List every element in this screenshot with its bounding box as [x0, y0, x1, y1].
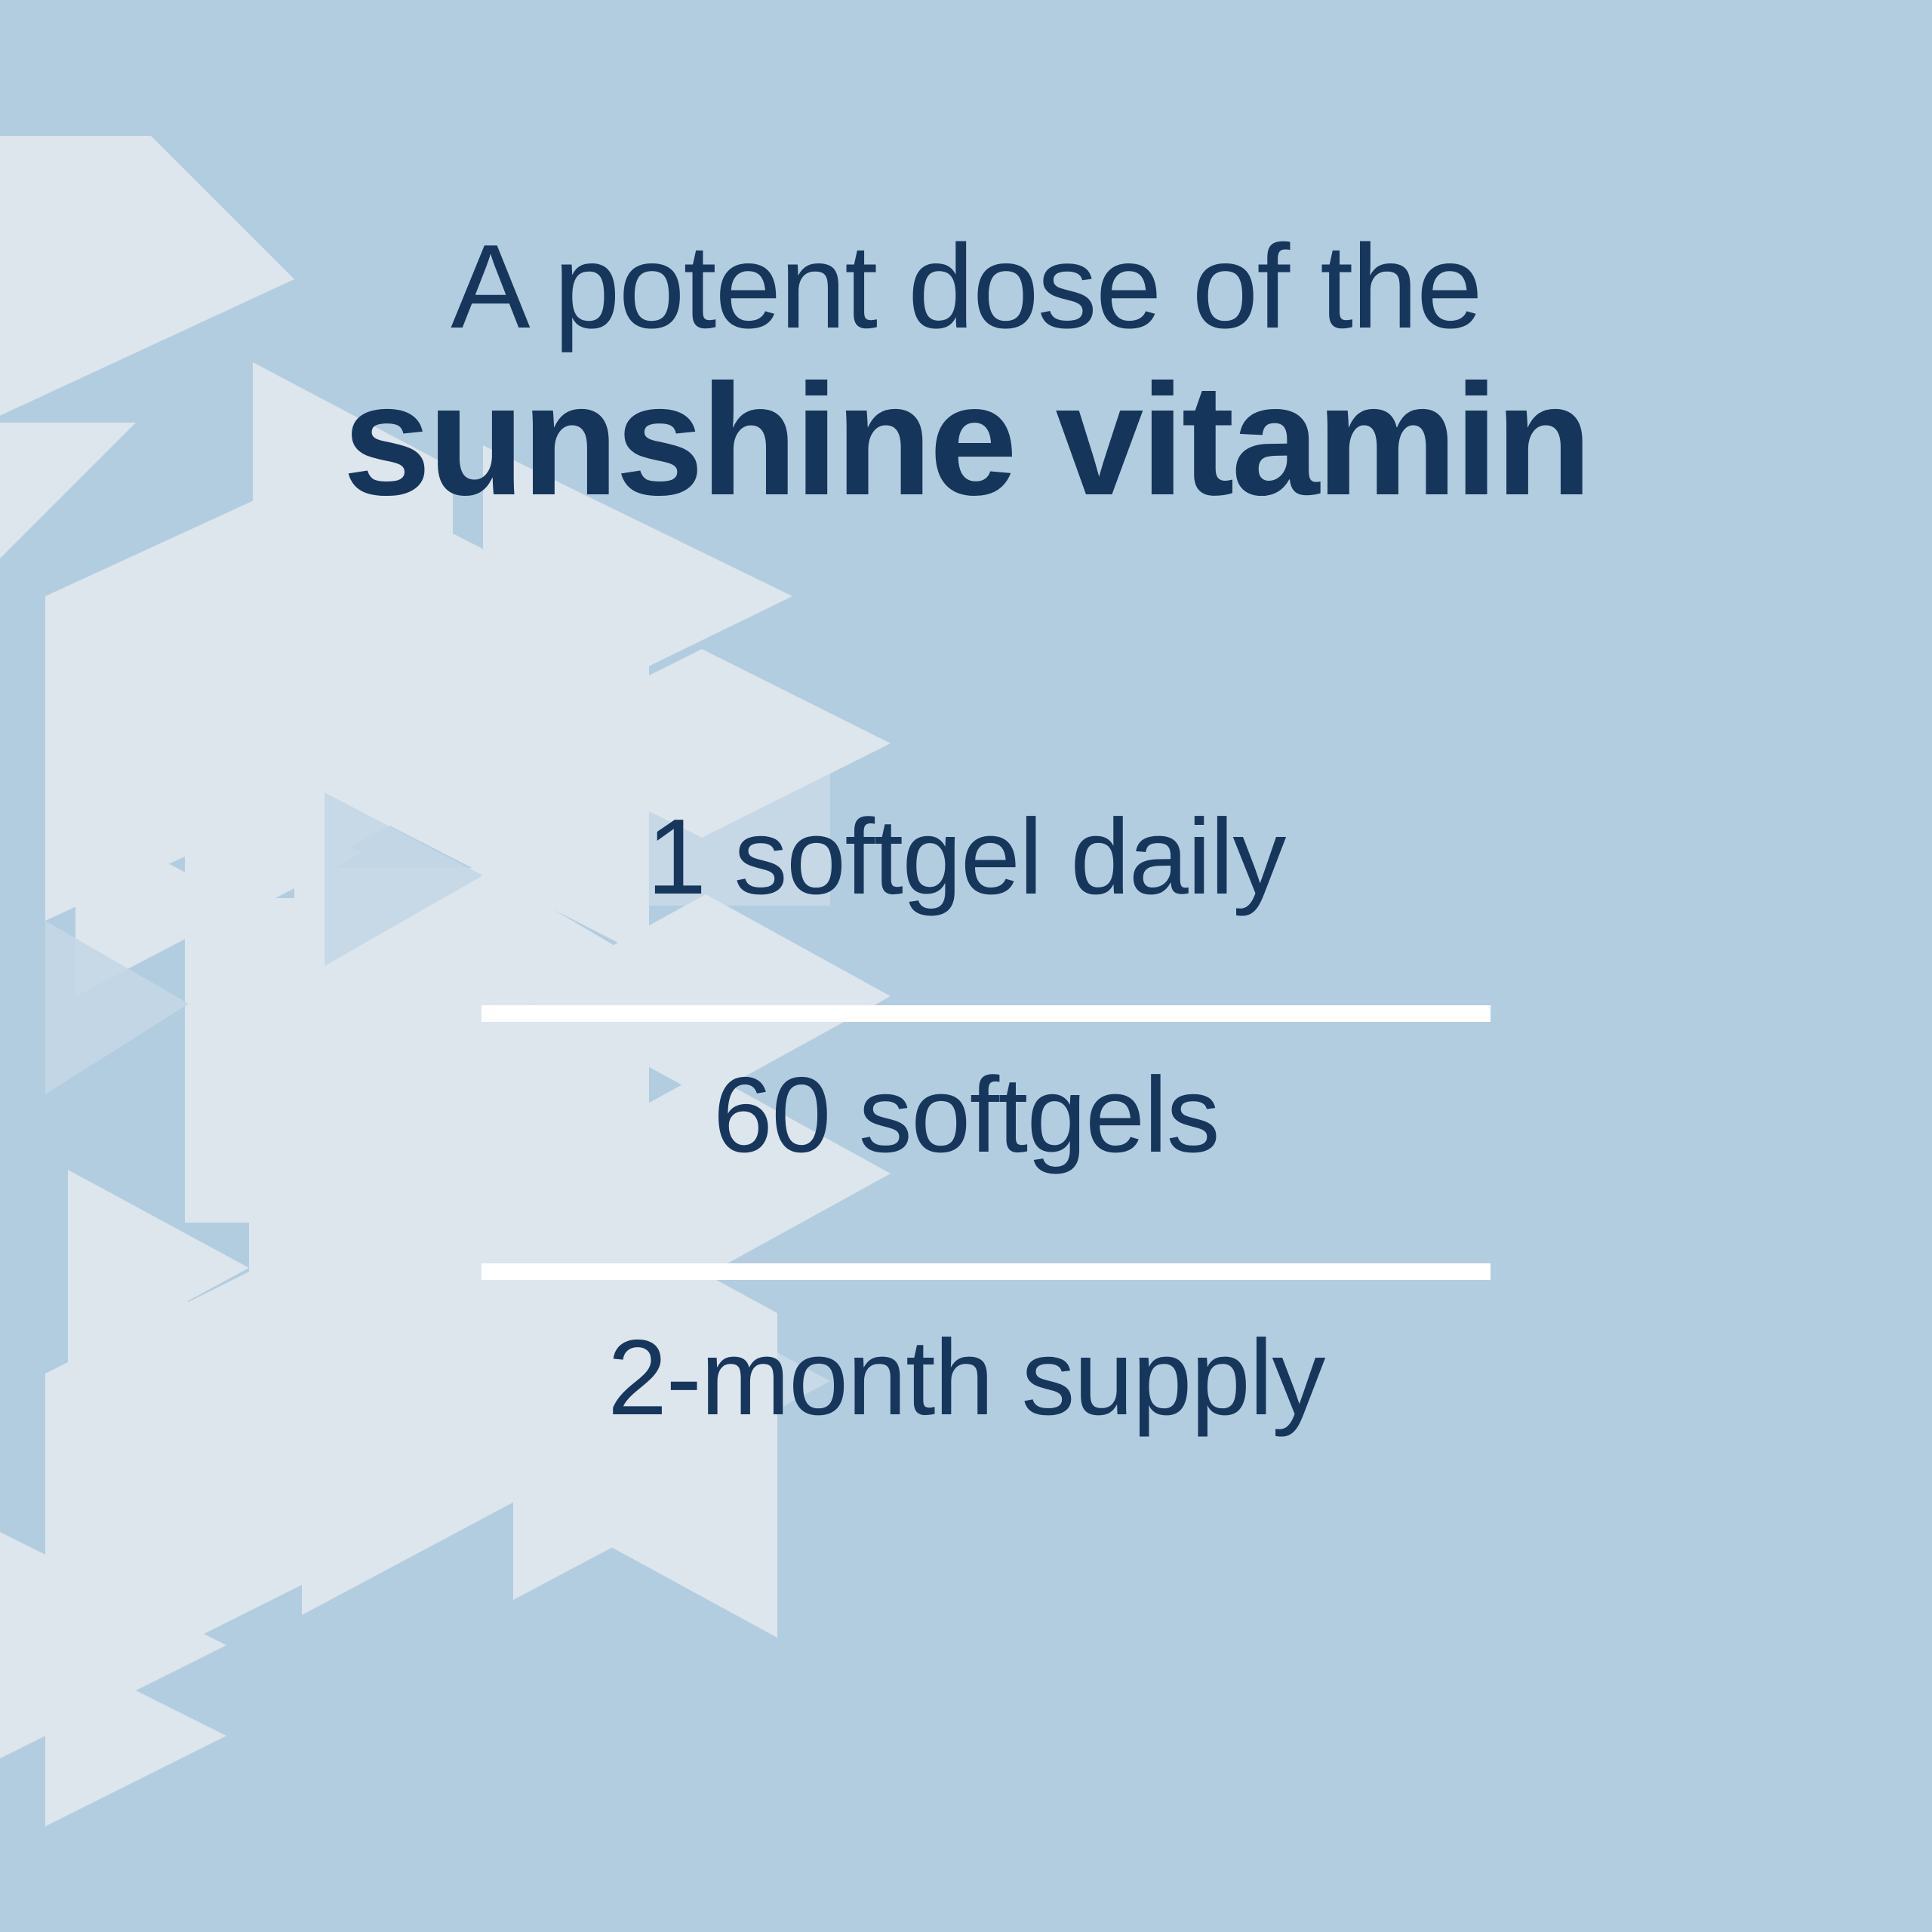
headline-line-1: A potent dose of the [0, 226, 1932, 348]
divider-2 [481, 1263, 1491, 1280]
fact-item-count: 60 softgels [0, 1022, 1932, 1174]
marketing-graphic-canvas: A potent dose of the sunshine vitamin 1 … [0, 0, 1932, 1932]
fact-item-dosage: 1 softgel daily [0, 777, 1932, 916]
fact-item-supply: 2-month supply [0, 1280, 1932, 1437]
headline-line-2: sunshine vitamin [0, 358, 1932, 521]
content-layer: A potent dose of the sunshine vitamin 1 … [0, 0, 1932, 1932]
product-facts-list: 1 softgel daily 60 softgels 2-month supp… [0, 777, 1932, 1438]
page-title: A potent dose of the sunshine vitamin [0, 226, 1932, 521]
divider-1 [481, 1005, 1491, 1022]
